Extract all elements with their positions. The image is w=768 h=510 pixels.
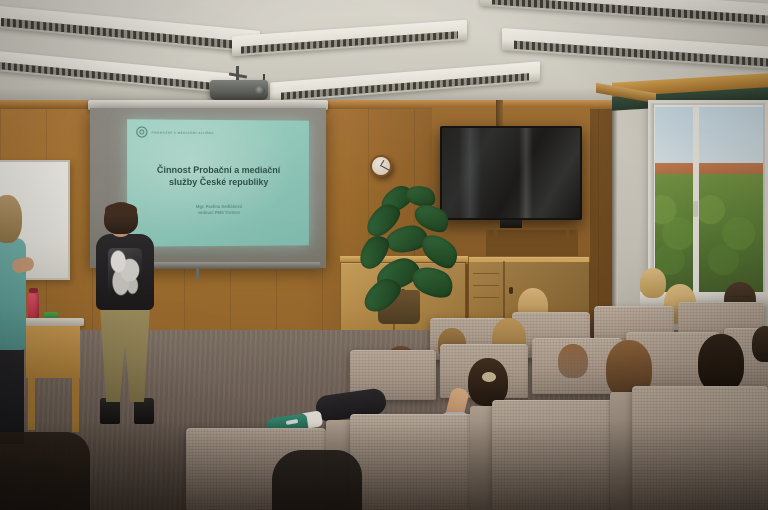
shirt-graphic-print <box>108 248 142 296</box>
shelf-rail <box>488 244 576 246</box>
window-blind-rod <box>650 104 654 292</box>
organisation-name: PROBAČNÍ A MEDIAČNÍ SLUŽBA <box>152 130 214 134</box>
foreground-shadow <box>0 420 768 510</box>
monstera-plant <box>356 186 466 316</box>
hedge-outside <box>699 174 763 293</box>
window-pane-left <box>655 107 693 293</box>
side-table-top <box>18 318 84 326</box>
audience-member-13 <box>752 326 768 362</box>
audience-member-7-glasses-icon <box>728 296 750 301</box>
assistant-torso <box>0 238 26 350</box>
presentation-slide: PROBAČNÍ A MEDIAČNÍ SLUŽBA Činnost Proba… <box>127 119 309 246</box>
window <box>648 100 768 300</box>
window-pane-right <box>699 107 763 293</box>
slide-title-line-2: služby České republiky <box>135 176 301 189</box>
audience-member-14 <box>640 268 666 298</box>
window-mullion <box>693 105 699 295</box>
presenter-torso <box>96 234 154 310</box>
window-handle[interactable] <box>693 201 698 217</box>
audience-member-2-hairclip <box>482 372 496 382</box>
tv-screen-reflection-2 <box>519 128 533 218</box>
audience-member-8 <box>698 334 744 392</box>
tv-mount-post <box>496 100 503 128</box>
slide-title-line-1: Činnost Probační a mediační <box>135 164 301 177</box>
water-bottle[interactable] <box>28 292 39 320</box>
presenter-hair-fringe <box>105 203 137 216</box>
slide-subtitle: Mgr. Pavlína Sedláková vedoucí PMS Trutn… <box>127 204 309 217</box>
wall-clock-icon <box>370 155 392 177</box>
audience-member-11 <box>558 344 588 378</box>
organisation-logo-icon <box>136 126 147 137</box>
projector-lens <box>255 86 265 95</box>
lecture-hall-photo: PROBAČNÍ A MEDIAČNÍ SLUŽBA Činnost Proba… <box>0 0 768 510</box>
assistant-hair <box>0 195 22 243</box>
audience-member-2 <box>468 358 508 406</box>
slide-title: Činnost Probační a mediační služby České… <box>127 164 309 189</box>
slide-subtitle-line-2: vedoucí PMS Trutnov <box>127 210 309 217</box>
bottle-cap <box>29 288 38 293</box>
slide-header: PROBAČNÍ A MEDIAČNÍ SLUŽBA <box>136 126 214 138</box>
projection-screen-pull-cord[interactable] <box>196 268 199 280</box>
side-table-body <box>26 326 80 378</box>
